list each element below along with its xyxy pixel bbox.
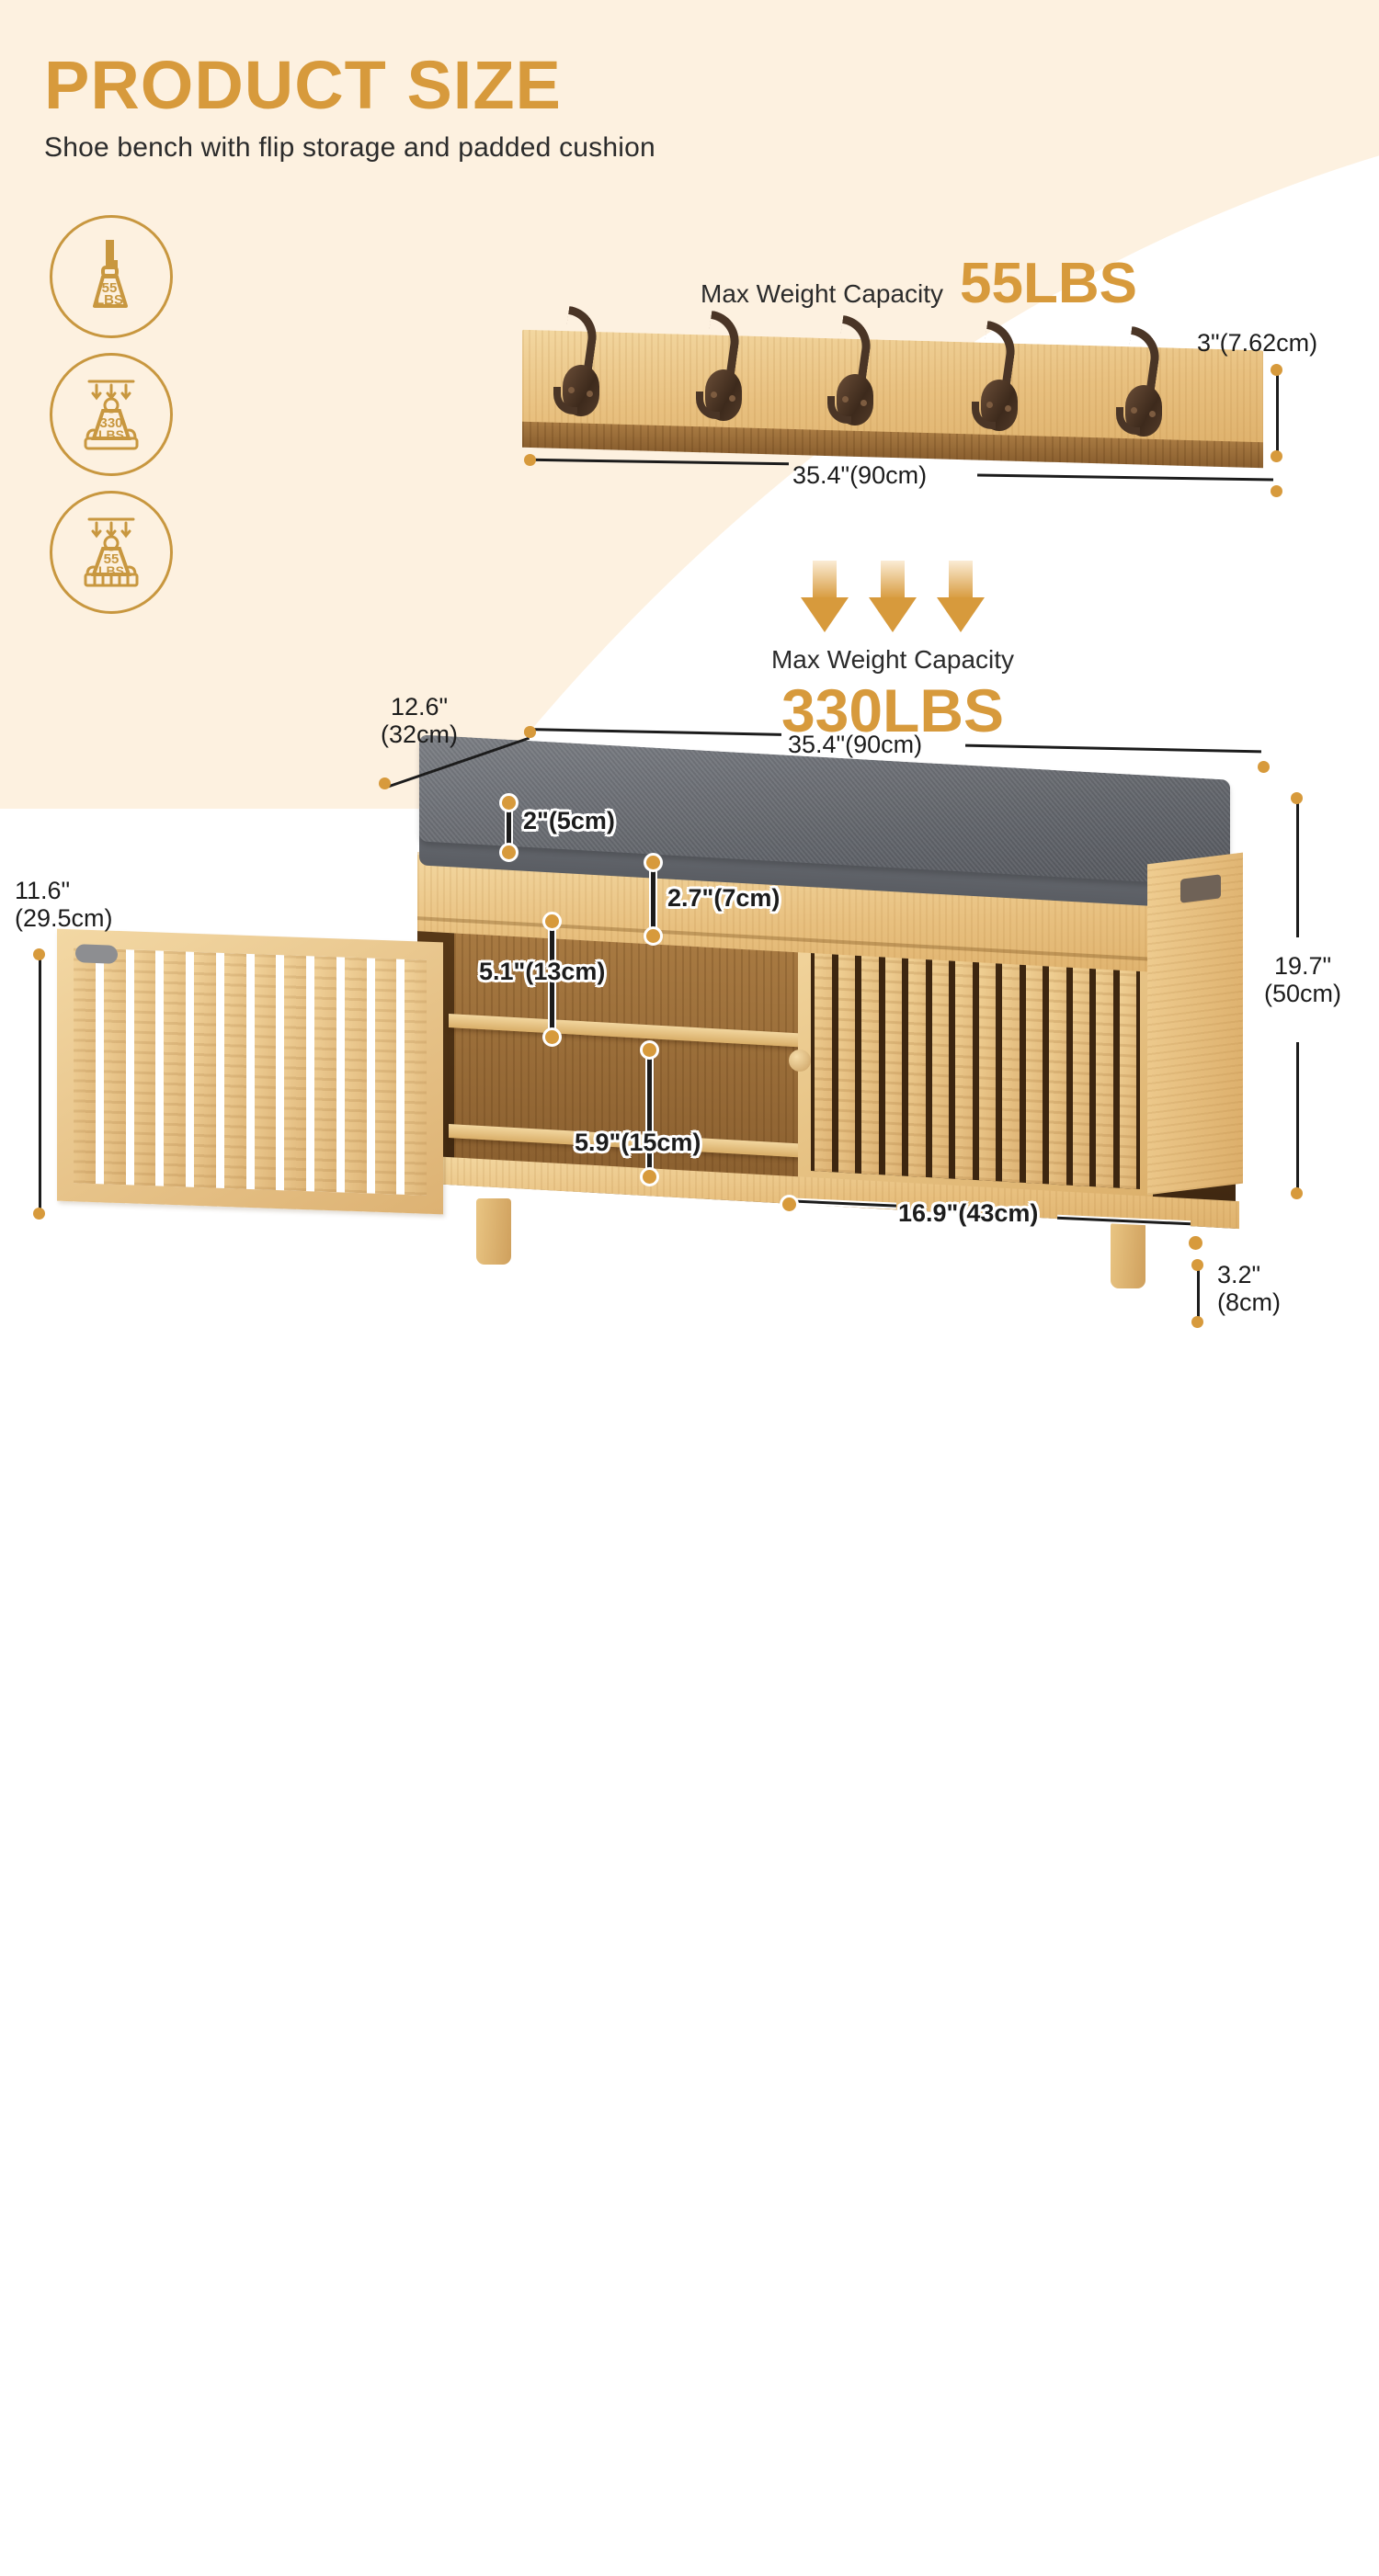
dim-dot (33, 948, 45, 960)
dim-line (1296, 800, 1299, 937)
down-arrow-icon (801, 561, 849, 632)
hook-capacity-value: 55LBS (960, 255, 1137, 312)
dim-dot (1271, 450, 1282, 462)
page-subtitle: Shoe bench with flip storage and padded … (44, 132, 655, 164)
bench-load-icon: 330 LBS (65, 369, 157, 460)
bench-total-height-label: 19.7" (50cm) (1264, 952, 1341, 1007)
svg-text:LBS: LBS (96, 292, 123, 308)
dim-dot (33, 1208, 45, 1220)
dim-dot (524, 726, 536, 738)
dim-dot (640, 1167, 659, 1186)
dim-dot (499, 843, 519, 862)
dim-line (651, 862, 655, 930)
cabinet-door-detached[interactable] (57, 929, 443, 1215)
load-arrows (759, 561, 1026, 632)
dim-dot (1291, 1187, 1303, 1199)
coat-hook (552, 308, 607, 429)
coat-hook (1114, 328, 1169, 449)
dim-dot (1271, 485, 1282, 497)
bench-leg (1111, 1222, 1145, 1288)
bench-weight-badge: 330 LBS (50, 353, 173, 476)
bench-capacity-label: Max Weight Capacity (759, 645, 1026, 675)
down-arrow-icon (869, 561, 917, 632)
side-handle-cutout (1180, 874, 1221, 902)
magnet-catch (75, 944, 118, 964)
dim-dot (644, 853, 663, 872)
detached-door-height-label: 11.6" (29.5cm) (15, 877, 113, 932)
shelf-load-icon: 55 LBS (65, 506, 157, 598)
dim-dot (644, 926, 663, 946)
dim-line (1296, 1042, 1299, 1191)
hook-rack-width-label: 35.4"(90cm) (792, 461, 927, 489)
dim-dot (1291, 792, 1303, 804)
dim-dot (1191, 1316, 1203, 1328)
hook-rack-height-label: 3"(7.62cm) (1197, 329, 1317, 357)
coat-hook (694, 312, 749, 434)
dim-dot (524, 454, 536, 466)
cabinet-door-right[interactable] (798, 936, 1153, 1203)
upper-shelf-height-label: 5.1"(13cm) (479, 958, 605, 985)
bench-depth-label: 12.6" (32cm) (381, 693, 458, 748)
dim-dot (780, 1195, 799, 1214)
bench-side-panel (1147, 853, 1243, 1196)
dim-dot (1191, 1259, 1203, 1271)
dim-line (1276, 368, 1279, 452)
header: PRODUCT SIZE Shoe bench with flip storag… (44, 51, 655, 164)
door-knob[interactable] (789, 1050, 811, 1072)
dim-dot (379, 777, 391, 789)
shelf-weight-badge: 55 LBS (50, 491, 173, 614)
page-title: PRODUCT SIZE (44, 51, 655, 119)
dim-dot (1258, 761, 1270, 773)
coat-hook (970, 323, 1025, 444)
drawer-height-label: 2.7"(7cm) (667, 884, 780, 912)
down-arrow-icon (937, 561, 985, 632)
door-width-label: 16.9"(43cm) (898, 1199, 1038, 1227)
svg-text:LBS: LBS (98, 427, 124, 442)
hook-capacity-block: Max Weight Capacity 55LBS (701, 255, 1137, 312)
dim-dot (1271, 364, 1282, 376)
door-slats (811, 950, 1140, 1189)
hook-weight-badge: 55 LBS (50, 215, 173, 338)
svg-text:LBS: LBS (98, 563, 124, 578)
dim-dot (1186, 1233, 1205, 1253)
shoe-bench (384, 746, 1274, 1261)
bench-leg (476, 1198, 511, 1265)
dim-line (39, 956, 41, 1211)
bench-width-label: 35.4"(90cm) (788, 731, 922, 758)
dim-dot (640, 1040, 659, 1060)
cushion-thickness-label: 2"(5cm) (523, 807, 615, 834)
dim-dot (542, 1027, 562, 1047)
hook-weight-icon: 55 LBS (67, 233, 155, 321)
dim-dot (542, 912, 562, 931)
bench-capacity-block: Max Weight Capacity 330LBS (759, 561, 1026, 741)
leg-height-label: 3.2" (8cm) (1217, 1261, 1281, 1316)
badge-column: 55 LBS 330 LBS (50, 215, 173, 629)
lower-shelf-height-label: 5.9"(15cm) (575, 1129, 701, 1156)
hook-capacity-label: Max Weight Capacity (701, 279, 943, 309)
door-slats (74, 948, 427, 1195)
dim-dot (499, 793, 519, 812)
dim-line (1197, 1266, 1200, 1320)
coat-hook (826, 317, 881, 438)
